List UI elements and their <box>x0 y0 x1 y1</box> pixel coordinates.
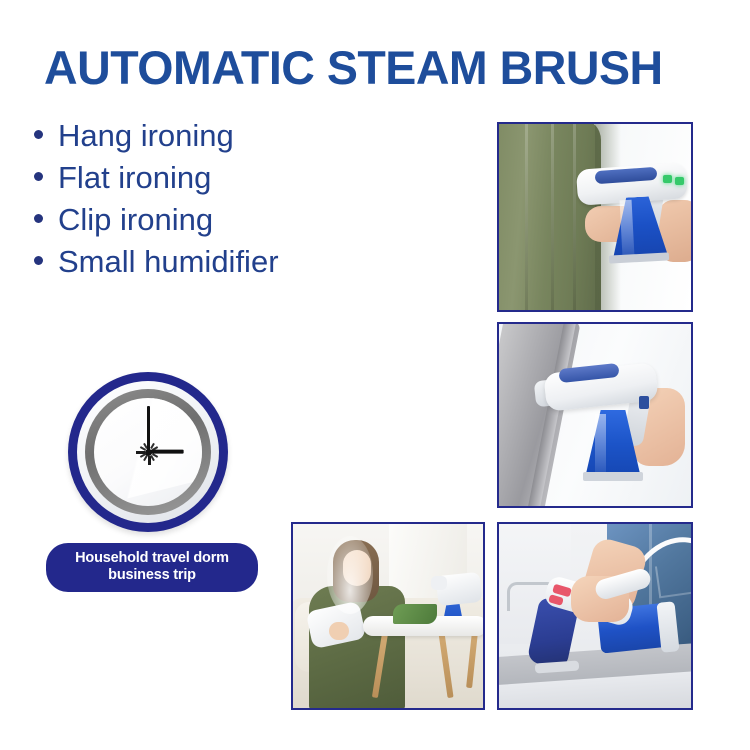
photo-scene <box>499 124 691 310</box>
list-item: Flat ironing <box>34 158 454 200</box>
page-title: AUTOMATIC STEAM BRUSH <box>44 44 717 91</box>
list-item: Clip ironing <box>34 200 454 242</box>
photo-scene <box>293 524 483 708</box>
clock-face <box>94 398 202 506</box>
feature-label: Small humidifier <box>58 242 279 282</box>
photo-hang-ironing <box>497 122 693 312</box>
steam-mist <box>327 536 373 614</box>
bullet-icon <box>34 256 43 265</box>
feature-label: Hang ironing <box>58 116 234 156</box>
plant-leaf <box>393 604 437 624</box>
photo-clip-ironing <box>497 522 693 710</box>
photo-scene <box>499 324 691 506</box>
photo-room-humidifier <box>291 522 485 710</box>
clock-minute-hand <box>147 406 150 452</box>
usage-scenario-block: Household travel dorm business trip <box>46 372 261 592</box>
feature-label: Flat ironing <box>58 158 211 198</box>
power-button <box>639 396 649 409</box>
clock-hour-hand <box>148 450 184 454</box>
bullet-icon <box>34 214 43 223</box>
feature-list: Hang ironing Flat ironing Clip ironing S… <box>34 116 454 284</box>
bullet-icon <box>34 172 43 181</box>
hand <box>329 622 349 640</box>
badge-line-1: Household travel dorm <box>52 550 252 567</box>
photo-board-ironing <box>497 322 693 508</box>
status-badge: Household travel dorm business trip <box>46 543 258 592</box>
bullet-icon <box>34 130 43 139</box>
wall-clock-icon <box>68 372 228 532</box>
photo-scene <box>499 524 691 708</box>
list-item: Small humidifier <box>34 242 454 284</box>
feature-label: Clip ironing <box>58 200 213 240</box>
badge-line-2: business trip <box>52 567 252 584</box>
list-item: Hang ironing <box>34 116 454 158</box>
product-poster: AUTOMATIC STEAM BRUSH Hang ironing Flat … <box>0 0 750 750</box>
clock-center-pin <box>145 449 152 456</box>
